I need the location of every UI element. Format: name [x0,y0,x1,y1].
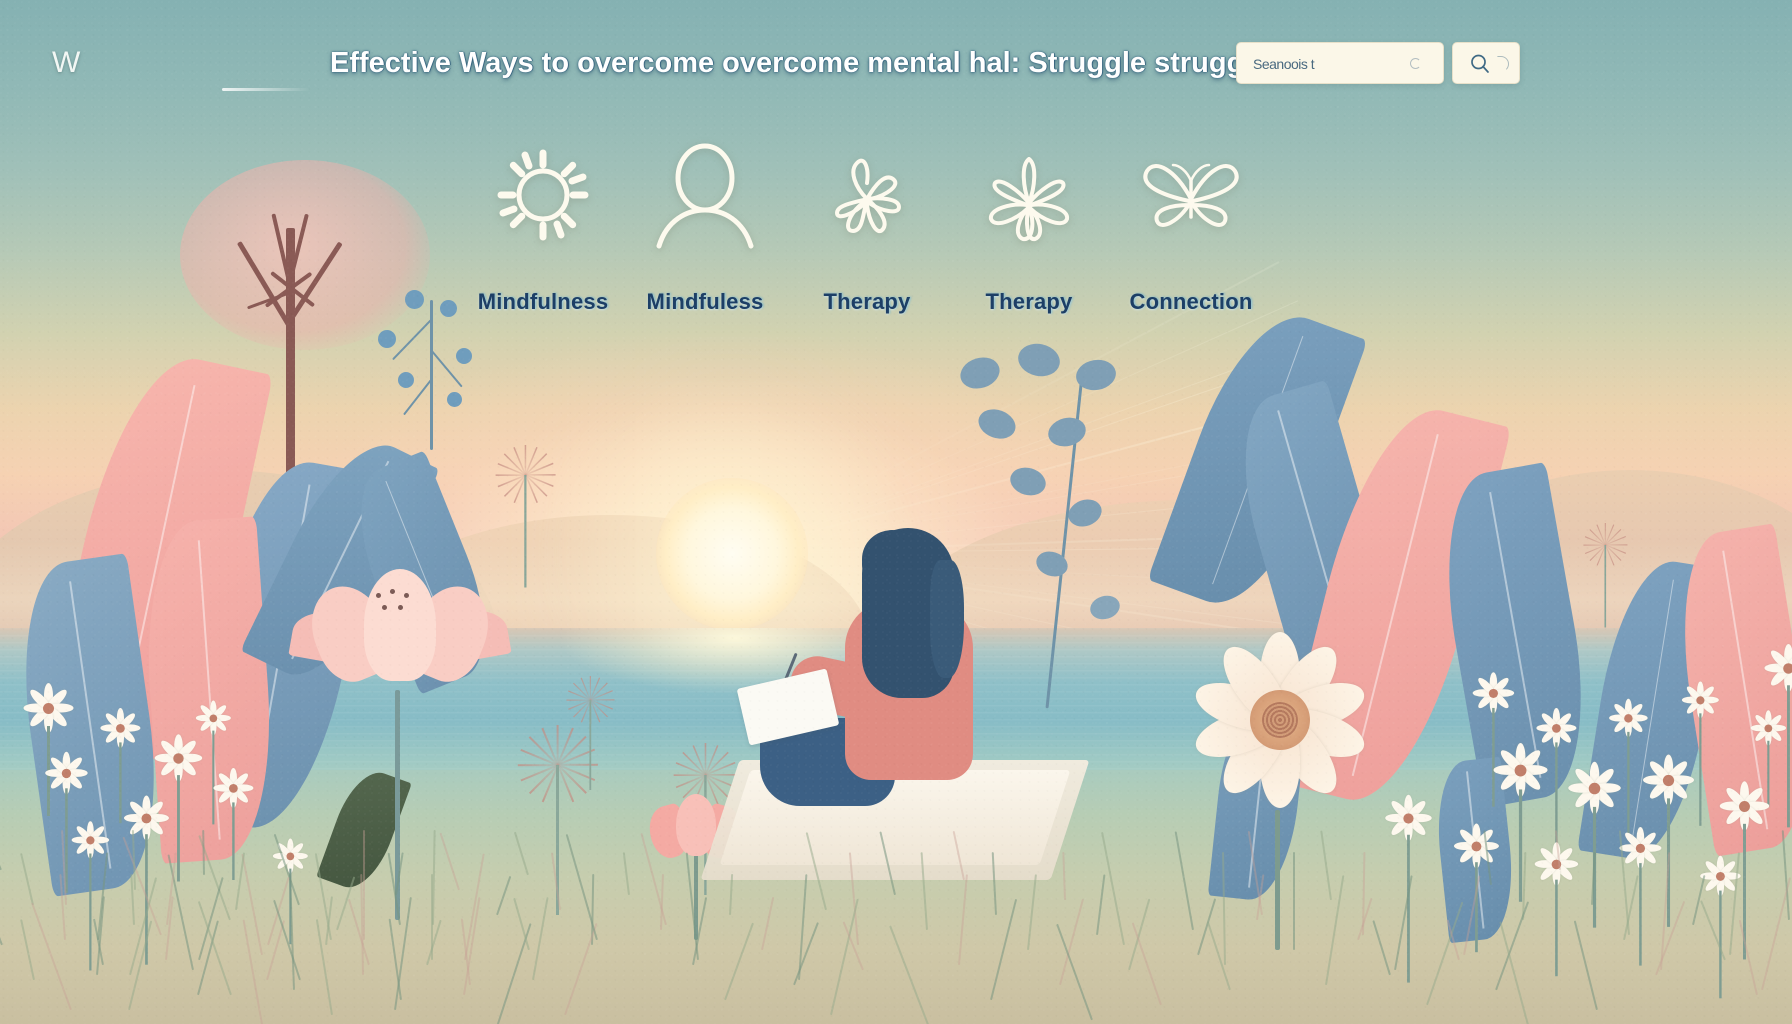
daisy-flower [42,749,90,797]
puff-filament [496,474,526,475]
daisy-center [1624,714,1632,722]
hero-banner: W Effective Ways to overcome overcome me… [0,0,1792,1024]
partial-circle-icon [1497,56,1509,72]
daisy-center [1739,801,1750,812]
daisy-center [1514,764,1526,776]
daisy-flower [98,706,143,751]
puff-stem [524,475,526,588]
daisy-center [1696,696,1704,704]
daisy-center [1662,774,1673,785]
daisy-flower [1382,792,1434,844]
nav-item-person[interactable]: Mindfuless [617,145,793,320]
daisy-flower [121,793,171,843]
daisy-stem [1639,863,1641,965]
daisy-center [43,703,54,714]
daisy-center [286,852,294,860]
daisy-center [1764,724,1772,732]
search-input[interactable]: Seanoois t [1236,42,1444,84]
daisy-flower [1565,759,1624,818]
grass-blade [1293,852,1295,950]
nav-label: Mindfuless [617,285,793,319]
nav-label: Therapy [941,285,1117,319]
daisy-center [1716,872,1725,881]
puff-filament [518,764,558,766]
daisy-stem [1787,685,1789,827]
daisy-flower [151,731,204,784]
daisy-center [1552,724,1561,733]
person-icon [617,145,793,245]
nav-label: Therapy [779,285,955,319]
puff-filament [674,774,706,775]
nav-icon-row: Mindfulness Mindfuless [455,145,1335,320]
nav-label: Connection [1103,285,1279,319]
daisy-center [1635,843,1644,852]
daisy-flower [193,698,232,737]
puff-filament [504,453,526,475]
daisy-stem [1555,880,1557,977]
daisy-center [86,836,94,844]
nav-item-connection[interactable]: Connection [1103,145,1279,320]
dandelion-puff [563,673,617,727]
daisy-stem [177,775,179,881]
flower-butterfly-icon [779,145,955,245]
nav-label: Mindfulness [455,285,631,319]
daisy-stem [1699,713,1701,825]
site-logo[interactable]: W [52,42,92,84]
daisy-flower [20,680,76,736]
daisy-flower [1451,821,1501,871]
daisy-center [1588,782,1600,794]
daisy-flower [1748,708,1788,748]
daisy-flower [1679,679,1720,720]
daisy-center [141,813,151,823]
daisy-flower [69,819,111,861]
daisy-flower [1639,751,1696,808]
daisy-flower [211,766,256,811]
sun-icon [455,145,631,245]
daisy-flower [1761,641,1792,695]
daisy-center [1488,688,1497,697]
loading-spinner-icon [1410,58,1421,69]
page-title: Effective Ways to overcome overcome ment… [330,42,1220,84]
daisy-stem [232,802,234,880]
puff-filament [1583,545,1605,546]
lotus-flower-icon [941,145,1117,245]
sun-icon [656,478,808,630]
daisy-center [1471,841,1481,851]
puff-filament [557,764,586,793]
daisy-stem [1407,835,1409,983]
daisy-center [1403,813,1413,823]
daisy-center [209,714,217,722]
daisy-stem [89,854,91,971]
puff-filament [529,736,558,765]
puff-filament [558,764,598,766]
puff-stem [1604,545,1605,628]
daisy-center [1783,663,1792,674]
puff-filament [566,700,590,701]
logo-underline-accent [222,88,310,91]
search-input-value: Seanoois t [1253,43,1314,85]
daisy-stem [1519,789,1522,901]
daisy-flower [1470,670,1516,716]
daisy-center [229,784,238,793]
magnifier-icon [1469,53,1491,80]
nav-item-mindfulness[interactable]: Mindfulness [455,145,631,320]
daisy-center [61,768,70,777]
daisy-center [173,753,183,763]
daisy-flower [1606,696,1649,739]
daisy-stem [1475,862,1477,952]
daisy-center [116,724,125,733]
grass-blade [363,830,365,940]
puff-stem [589,700,591,790]
dandelion-puff [491,441,559,509]
butterfly-icon [1103,145,1279,245]
nav-item-therapy-1[interactable]: Therapy [779,145,955,320]
daisy-flower [1716,778,1771,833]
daisy-flower [1490,740,1550,800]
puff-filament [683,752,707,776]
search-button[interactable] [1452,42,1520,84]
nav-item-therapy-2[interactable]: Therapy [941,145,1117,320]
